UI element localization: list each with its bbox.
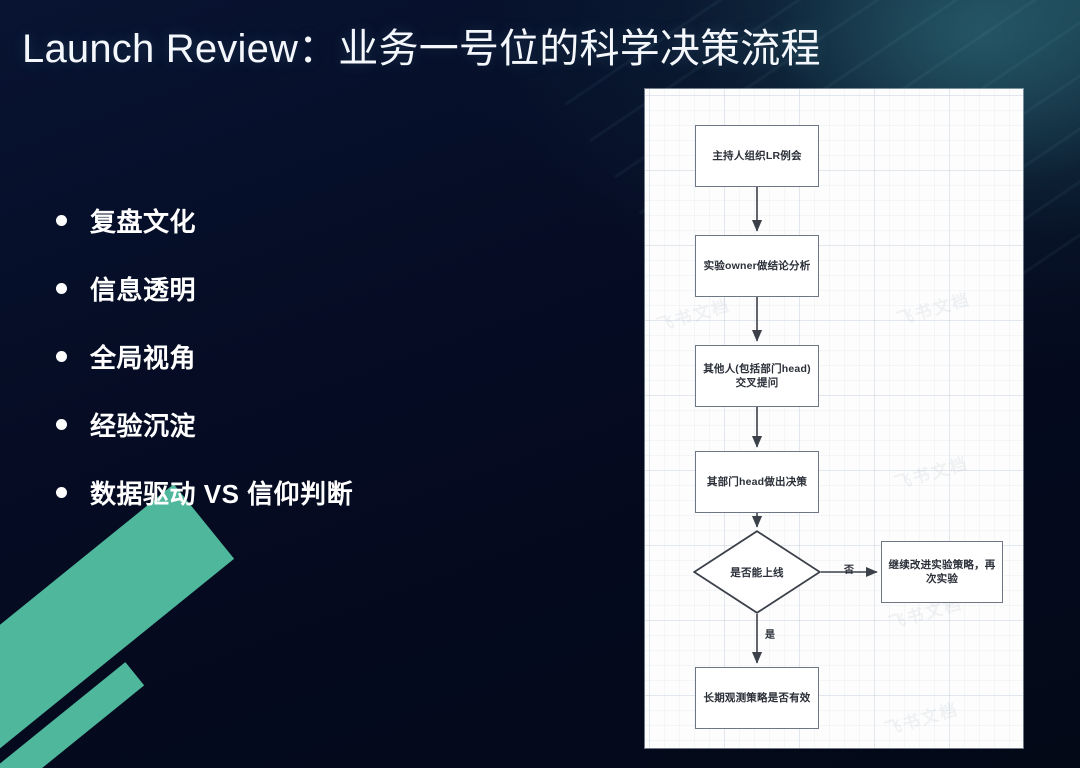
bullet-label: 经验沉淀 — [90, 406, 196, 443]
flow-node-others-cross-questioning: 其他人(包括部门head)交叉提问 — [695, 345, 819, 407]
flowchart-connectors — [645, 89, 1023, 748]
list-item: 全局视角 — [56, 322, 576, 390]
flow-node-can-launch-decision: 是否能上线 — [693, 530, 821, 614]
bullet-label: 数据驱动 VS 信仰判断 — [90, 474, 353, 511]
list-item: 经验沉淀 — [56, 390, 576, 458]
list-item: 信息透明 — [56, 254, 576, 322]
edge-label-yes: 是 — [765, 626, 775, 641]
teal-diagonal-stripe-thin — [0, 662, 144, 768]
bullet-label: 复盘文化 — [90, 202, 196, 239]
flow-node-experiment-owner-analysis: 实验owner做结论分析 — [695, 235, 819, 297]
flow-node-improve-and-retest: 继续改进实验策略，再次实验 — [881, 541, 1003, 603]
bullet-dot-icon — [56, 419, 67, 430]
slide-canvas: Launch Review：业务一号位的科学决策流程 复盘文化 信息透明 全局视… — [0, 0, 1080, 768]
edge-label-no: 否 — [844, 561, 854, 576]
bullet-dot-icon — [56, 215, 67, 226]
bullet-label: 信息透明 — [90, 270, 196, 307]
flow-node-label: 是否能上线 — [730, 565, 784, 580]
teal-diagonal-stripe — [0, 484, 234, 768]
flow-node-department-head-decision: 其部门head做出决策 — [695, 451, 819, 513]
flow-node-long-term-observation: 长期观测策略是否有效 — [695, 667, 819, 729]
flowchart-image-panel: 飞书文档 飞书文档 飞书文档 飞书文档 飞书文档 主持人组织LR例会 实 — [645, 89, 1023, 748]
bullet-dot-icon — [56, 351, 67, 362]
list-item: 数据驱动 VS 信仰判断 — [56, 458, 576, 526]
bullet-label: 全局视角 — [90, 338, 196, 375]
bullet-list: 复盘文化 信息透明 全局视角 经验沉淀 数据驱动 VS 信仰判断 — [56, 186, 576, 526]
page-title: Launch Review：业务一号位的科学决策流程 — [22, 16, 821, 74]
flow-node-host-organizes-lr-meeting: 主持人组织LR例会 — [695, 125, 819, 187]
bullet-dot-icon — [56, 283, 67, 294]
list-item: 复盘文化 — [56, 186, 576, 254]
bullet-dot-icon — [56, 487, 67, 498]
